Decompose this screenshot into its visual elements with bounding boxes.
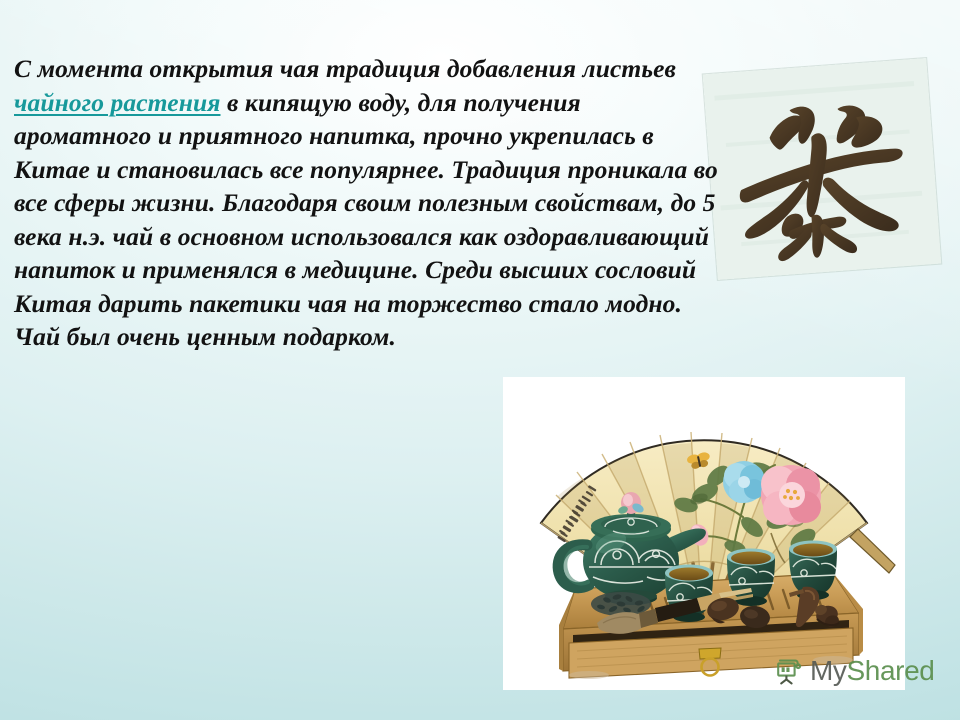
pink-peony xyxy=(761,465,821,525)
slide-body-text: С момента открытия чая традиция добавлен… xyxy=(14,52,720,354)
tea-set-illustration xyxy=(503,377,905,690)
chinese-character-cha-icon xyxy=(703,58,941,280)
myshared-watermark: MyShared xyxy=(775,656,934,686)
watermark-my: My xyxy=(810,655,847,686)
blue-peony xyxy=(723,461,765,503)
slide-canvas: С момента открытия чая традиция добавлен… xyxy=(0,0,960,720)
paragraph-segment-2: в кипящую воду, для получения ароматного… xyxy=(14,88,718,352)
watermark-text: MyShared xyxy=(810,656,934,686)
tea-plant-hyperlink[interactable]: чайного растения xyxy=(14,88,220,117)
tea-set-photo-panel xyxy=(503,377,905,690)
calligraphy-card xyxy=(703,58,941,280)
watermark-shared: Shared xyxy=(847,655,935,686)
myshared-projector-icon xyxy=(775,656,805,686)
paragraph-segment-1: С момента открытия чая традиция добавлен… xyxy=(14,54,676,83)
